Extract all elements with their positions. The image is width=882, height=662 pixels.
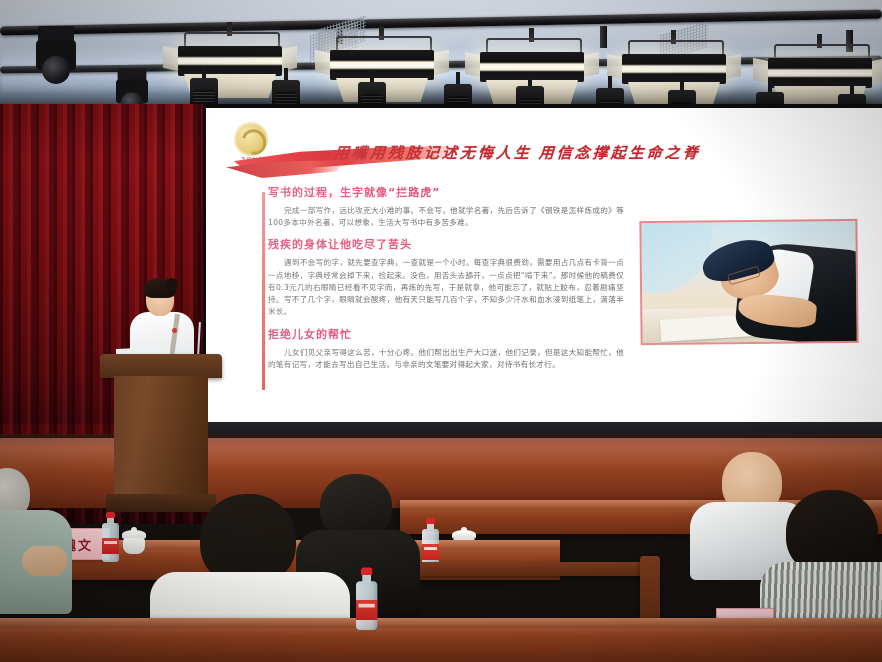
speaker-badge — [172, 328, 177, 333]
presentation-slide: 五日树业 用嘴用残肢记述无悔人生 用信念撑起生命之脊 写书的过程，生字就像“拦路… — [206, 108, 882, 423]
water-bottle — [356, 568, 377, 631]
slide-section-heading-3: 拒绝儿女的帮忙 — [268, 328, 624, 343]
audience-person-left — [0, 468, 74, 608]
bottle-label — [356, 600, 377, 620]
water-bottle — [102, 512, 119, 562]
podium-body — [114, 376, 208, 496]
slide-section-heading-1: 写书的过程，生字就像“拦路虎” — [268, 186, 624, 201]
auditorium-scene: 五日树业 用嘴用残肢记述无悔人生 用信念撑起生命之脊 写书的过程，生字就像“拦路… — [0, 0, 882, 662]
person-arm — [22, 546, 68, 576]
light-head — [42, 56, 70, 84]
bench-backrest — [394, 562, 654, 576]
slide-section-paragraph-3: 儿女们见父亲写得这么苦，十分心疼。他们帮出出生产大口迷，他们记录，但是这大知能帮… — [268, 347, 624, 372]
slide-content-card: 写书的过程，生字就像“拦路虎” 完成一部写作，远比攻克大小难的事。不会写，他就学… — [268, 186, 624, 398]
desk-row-front — [0, 618, 882, 662]
slide-photo — [639, 219, 858, 345]
bottle-cap — [361, 568, 372, 576]
slide-section-paragraph-2: 遇到不会写的字，就先要查字典，一查就是一个小时。每查字典很费劲，需要用占几点有卡… — [268, 257, 624, 318]
slide-banner-title: 用嘴用残肢记述无悔人生 用信念撑起生命之脊 — [333, 142, 854, 163]
desk-gloss — [0, 618, 882, 662]
slide-section-paragraph-1: 完成一部写作，远比攻克大小难的事。不会写，他就学名著，先后告诉了《钢铁是怎样炼成… — [268, 205, 624, 230]
photo-background — [641, 222, 712, 293]
bottle-label — [102, 538, 119, 554]
moving-head-light — [34, 26, 78, 88]
truss-dropper — [600, 26, 607, 48]
projection-screen: 五日树业 用嘴用残肢记述无悔人生 用信念撑起生命之脊 写书的过程，生字就像“拦路… — [206, 108, 882, 423]
podium-top — [100, 354, 222, 378]
teacup-body — [123, 538, 145, 554]
podium — [100, 354, 222, 512]
speaker-hair-bun — [166, 278, 178, 290]
slide-section-heading-2: 残疾的身体让他吃尽了苦头 — [268, 238, 624, 253]
teacup — [122, 530, 146, 554]
